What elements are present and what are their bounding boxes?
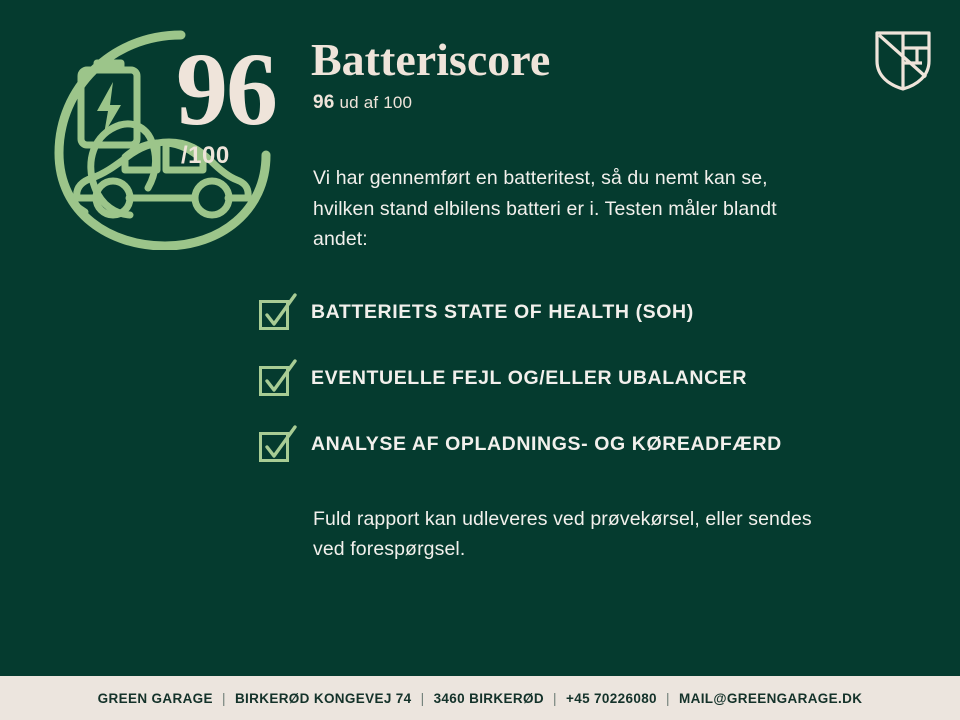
footer-postal-city: 3460 BIRKERØD — [434, 691, 544, 706]
footer-contact-line: GREEN GARAGE | BIRKERØD KONGEVEJ 74 | 34… — [98, 691, 863, 706]
checkbox-checked-icon — [258, 293, 300, 333]
badge-score-value: 96 — [176, 38, 276, 142]
footer-bar: GREEN GARAGE | BIRKERØD KONGEVEJ 74 | 34… — [0, 676, 960, 720]
list-item: BATTERIETS STATE OF HEALTH (SOH) — [311, 291, 911, 335]
footer-separator: | — [217, 691, 231, 706]
test-checklist: BATTERIETS STATE OF HEALTH (SOH) EVENTUE… — [311, 291, 911, 467]
footer-email[interactable]: MAIL@GREENGARAGE.DK — [679, 691, 862, 706]
list-item: ANALYSE AF OPLADNINGS- OG KØREADFÆRD — [311, 423, 911, 467]
battery-score-badge: 96 /100 — [48, 22, 280, 250]
checkbox-checked-icon — [258, 359, 300, 399]
badge-score-max: /100 — [181, 142, 230, 170]
footer-separator: | — [548, 691, 562, 706]
score-subtitle-rest: ud af 100 — [339, 93, 412, 112]
batteriscore-card: 96 /100 Batteriscore 96 ud af 100 Vi har… — [0, 0, 960, 720]
checklist-label: EVENTUELLE FEJL OG/ELLER UBALANCER — [311, 367, 747, 390]
footer-phone[interactable]: +45 70226080 — [566, 691, 657, 706]
intro-paragraph: Vi har gennemført en batteritest, så du … — [313, 163, 833, 254]
checkbox-checked-icon — [258, 425, 300, 465]
footer-address: BIRKERØD KONGEVEJ 74 — [235, 691, 412, 706]
checklist-label: BATTERIETS STATE OF HEALTH (SOH) — [311, 301, 694, 324]
page-title: Batteriscore — [311, 36, 911, 84]
list-item: EVENTUELLE FEJL OG/ELLER UBALANCER — [311, 357, 911, 401]
content-column: Batteriscore 96 ud af 100 Vi har gennemf… — [311, 36, 911, 564]
score-subtitle: 96 ud af 100 — [313, 92, 911, 114]
score-subtitle-value: 96 — [313, 92, 335, 113]
footer-company: GREEN GARAGE — [98, 691, 213, 706]
footer-separator: | — [416, 691, 430, 706]
footer-separator: | — [661, 691, 675, 706]
checklist-label: ANALYSE AF OPLADNINGS- OG KØREADFÆRD — [311, 433, 782, 456]
outro-paragraph: Fuld rapport kan udleveres ved prøvekørs… — [313, 504, 843, 564]
